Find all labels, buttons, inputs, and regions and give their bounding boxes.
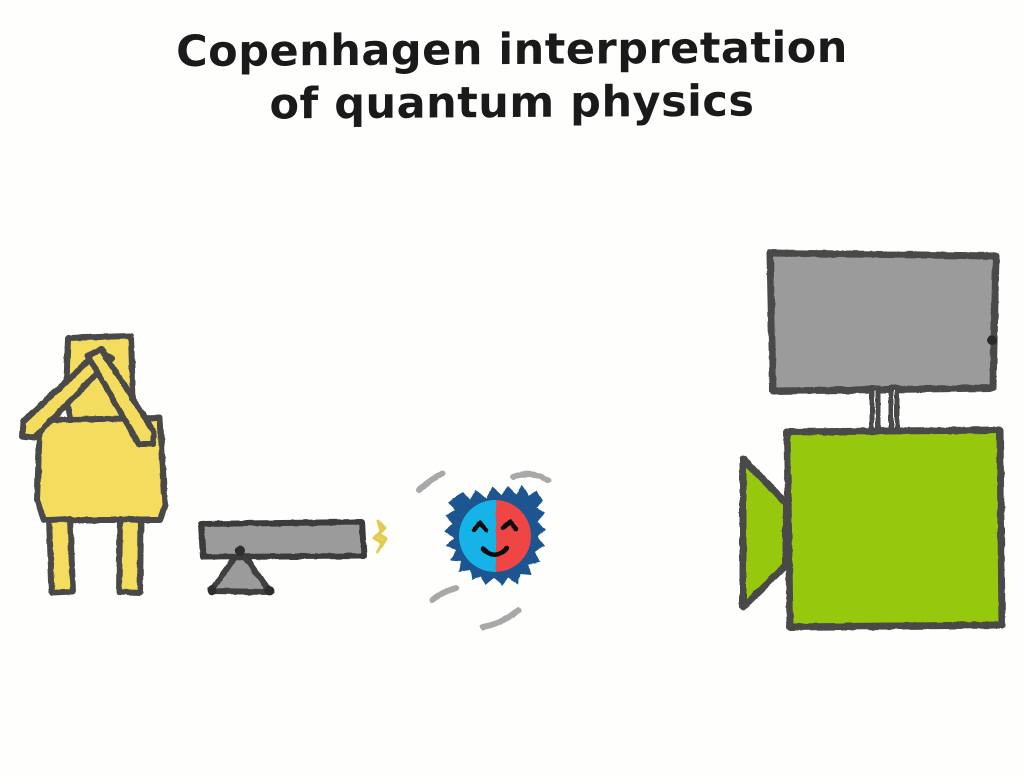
- detector-body: [787, 430, 1002, 627]
- detector-screen-corner-dot: [987, 335, 997, 345]
- detector-post-left: [872, 388, 878, 432]
- observer-right-leg: [119, 519, 141, 593]
- emitter-stand-joint-right: [264, 586, 274, 596]
- detector-lens: [743, 459, 786, 607]
- measurement-detector: [743, 253, 1002, 627]
- illustration-canvas: Copenhagen interpretation of quantum phy…: [0, 0, 1024, 776]
- emitter-stand-joint-left: [207, 585, 217, 595]
- detector-screen: [770, 253, 996, 391]
- motion-arc-top-left: [419, 473, 443, 490]
- motion-arc-bottom-right: [483, 610, 519, 627]
- spark-glyph: [374, 521, 386, 552]
- emitter-bar-joint: [235, 546, 245, 556]
- detector-post-right: [891, 388, 897, 432]
- motion-arc-bottom-left: [432, 588, 456, 600]
- emitter-bar: [201, 522, 364, 557]
- observer-left-leg: [49, 519, 73, 593]
- particle-spark: [374, 521, 386, 552]
- observer-figure: [22, 336, 165, 593]
- scene-drawing: [0, 0, 1024, 776]
- particle-emitter: [201, 522, 364, 596]
- motion-arc-top-right: [513, 474, 548, 480]
- quantum-particle-face: [419, 473, 548, 627]
